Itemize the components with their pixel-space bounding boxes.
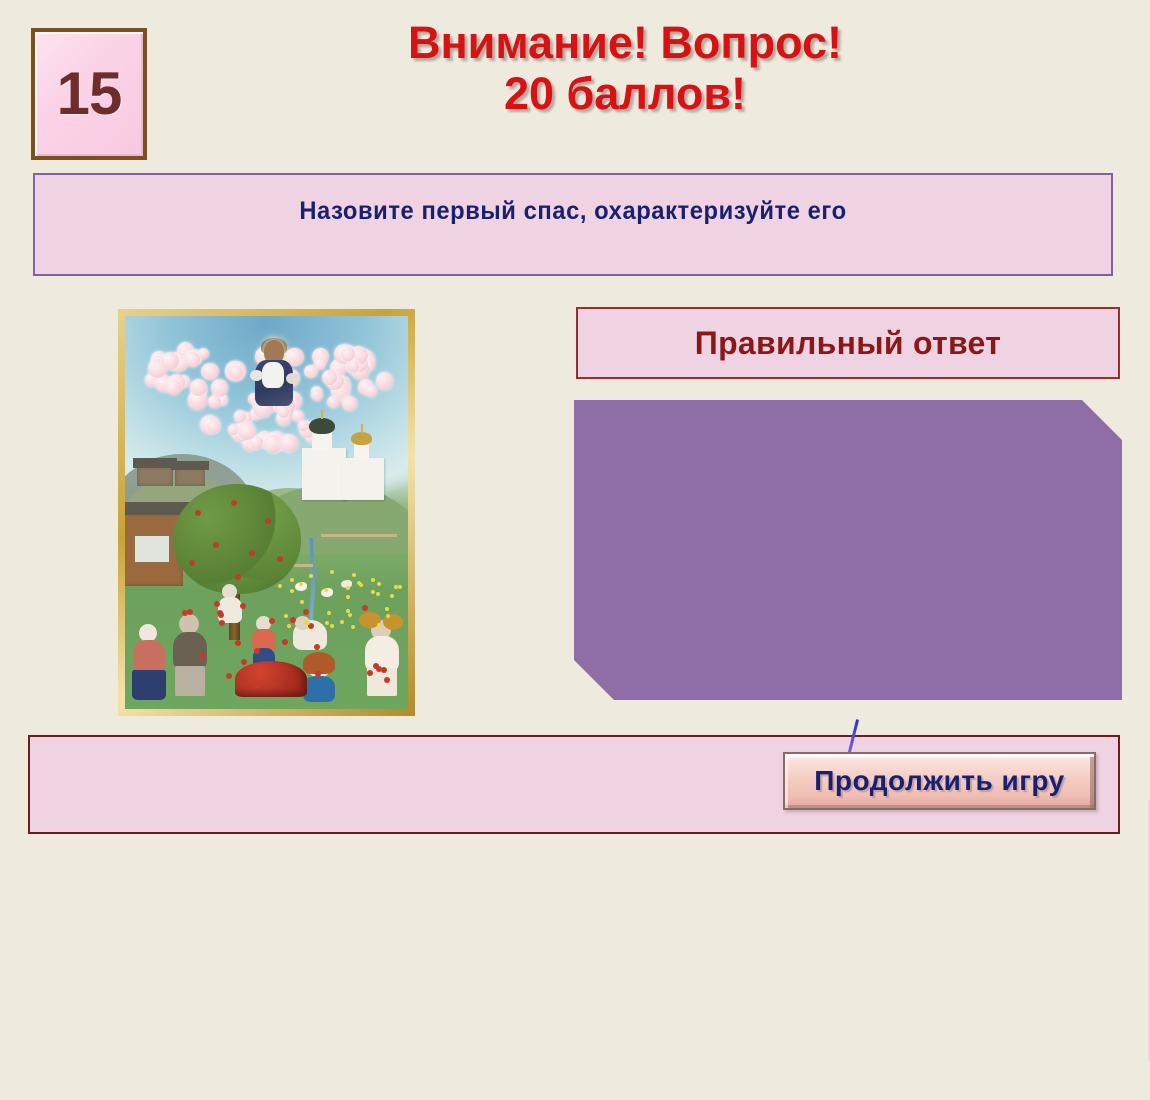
- title-line-2: 20 баллов!: [230, 69, 1020, 120]
- fallen-apple: [240, 603, 246, 609]
- church-dome: [309, 418, 335, 434]
- villager-head: [179, 614, 199, 634]
- village-house: [175, 468, 205, 486]
- apple-blossom: [366, 385, 377, 396]
- apple-blossom: [322, 370, 337, 385]
- fence: [321, 534, 397, 537]
- apple-blossom: [161, 352, 179, 370]
- meadow-flower: [351, 625, 355, 629]
- meadow-flower: [376, 592, 380, 596]
- villager-skirt: [132, 670, 166, 700]
- apple-blossom: [185, 352, 200, 367]
- apple-blossom: [211, 379, 228, 396]
- fallen-apple: [218, 612, 224, 618]
- answer-callout-border: [574, 400, 1122, 700]
- meadow-flower: [377, 582, 381, 586]
- apple-tree-crown: [173, 484, 301, 594]
- house-window: [133, 534, 171, 564]
- meadow-flower: [390, 594, 394, 598]
- meadow-flower: [398, 585, 402, 589]
- fallen-apple: [254, 648, 260, 654]
- fallen-apple: [253, 683, 259, 689]
- church-nave: [302, 448, 346, 500]
- apple: [265, 518, 271, 524]
- fallen-apple: [219, 620, 225, 626]
- house-roof: [171, 461, 209, 470]
- fallen-apple: [282, 639, 288, 645]
- apple: [277, 556, 283, 562]
- apple-blossom: [314, 358, 326, 370]
- apple: [189, 560, 195, 566]
- meadow-flower: [371, 578, 375, 582]
- correct-answer-header: Правильный ответ: [576, 307, 1120, 379]
- meadow-flower: [309, 574, 313, 578]
- fallen-apple: [362, 605, 368, 611]
- apple-pile: [235, 661, 307, 697]
- apple-blossom: [327, 396, 340, 409]
- figure-arm: [250, 370, 263, 381]
- apple-blossom: [207, 420, 220, 433]
- answer-callout: Первый Спас -медовыйСпас, Крест выносят.…: [574, 400, 1122, 700]
- apple: [195, 510, 201, 516]
- meadow-flower: [327, 611, 331, 615]
- meadow-flower: [385, 607, 389, 611]
- meadow-flower: [330, 624, 334, 628]
- apple: [235, 574, 241, 580]
- illustration-painting: [125, 316, 408, 709]
- apple: [231, 500, 237, 506]
- villager-torso: [303, 676, 335, 702]
- church-dome: [351, 432, 372, 445]
- villager-legs: [175, 666, 205, 696]
- apple-blossom: [234, 410, 247, 423]
- figure-arm: [286, 373, 299, 384]
- fallen-apple: [303, 609, 309, 615]
- meadow-flower: [290, 589, 294, 593]
- apple-blossom: [208, 395, 221, 408]
- meadow-flower: [290, 578, 294, 582]
- meadow-flower: [346, 595, 350, 599]
- meadow-flower: [330, 570, 334, 574]
- apple-blossom: [166, 380, 181, 395]
- title-line-1: Внимание! Вопрос!: [408, 17, 842, 68]
- villager-with-bread: [361, 612, 403, 696]
- illustration-frame: [118, 309, 415, 716]
- apple-blossom: [342, 396, 357, 411]
- meadow-flower: [306, 621, 310, 625]
- meadow-flower: [300, 600, 304, 604]
- villager-torso: [173, 632, 207, 670]
- meadow-flower: [287, 624, 291, 628]
- village-house: [137, 466, 173, 486]
- villager-woman: [133, 624, 167, 696]
- church-cross: [361, 424, 363, 433]
- apple-blossom: [230, 366, 242, 378]
- correct-answer-label: Правильный ответ: [695, 325, 1001, 362]
- savior-figure: [251, 340, 297, 412]
- meadow-flower: [348, 613, 352, 617]
- fallen-apple: [235, 640, 241, 646]
- apple-blossom: [190, 379, 207, 396]
- meadow-flower: [284, 614, 288, 618]
- meadow-flower: [340, 620, 344, 624]
- question-text: Назовите первый спас, охарактеризуйте ег…: [62, 197, 1084, 226]
- apple-blossom: [238, 422, 256, 440]
- meadow-flower: [346, 586, 350, 590]
- meadow-flower: [278, 584, 282, 588]
- question-box: Назовите первый спас, охарактеризуйте ег…: [33, 173, 1113, 276]
- villager-torso: [133, 640, 165, 674]
- apple-blossom: [376, 372, 394, 390]
- fallen-apple: [214, 601, 220, 607]
- church-apse: [342, 458, 384, 500]
- fallen-apple: [384, 677, 390, 683]
- meadow-flower: [371, 590, 375, 594]
- meadow-flower: [352, 573, 356, 577]
- apple: [249, 550, 255, 556]
- continue-game-button[interactable]: Продолжить игру: [783, 752, 1096, 810]
- fallen-apple: [314, 644, 320, 650]
- figure-robe: [262, 362, 284, 388]
- church-cross: [321, 409, 323, 419]
- apple: [213, 542, 219, 548]
- question-number-badge: 15: [31, 28, 147, 160]
- fallen-apple: [182, 610, 188, 616]
- question-number: 15: [57, 64, 122, 124]
- page-title: Внимание! Вопрос! 20 баллов!: [230, 18, 1020, 120]
- fallen-apple: [226, 673, 232, 679]
- church-building: [296, 412, 392, 504]
- meadow-flower: [325, 621, 329, 625]
- continue-game-label: Продолжить игру: [814, 765, 1064, 797]
- fallen-apple: [241, 659, 247, 665]
- apple-blossom: [201, 363, 218, 380]
- apple-blossom: [311, 389, 323, 401]
